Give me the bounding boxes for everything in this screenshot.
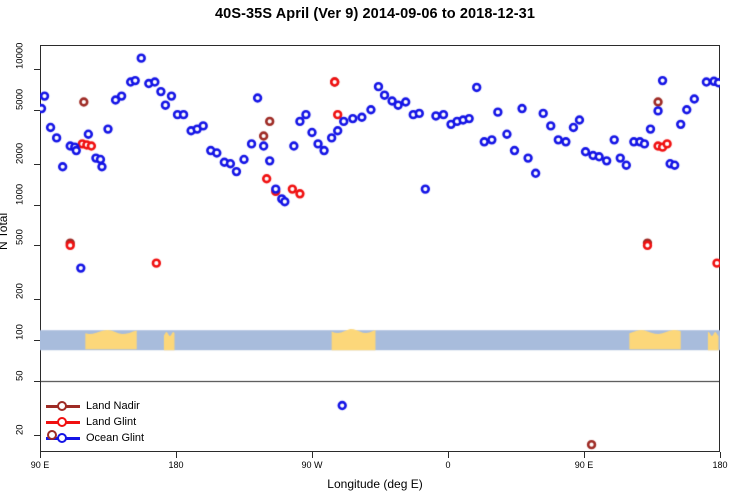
x-tick-label: 90 E [575,460,594,470]
x-tick-label: 180 [712,460,727,470]
y-axis-label: N Total [0,213,10,250]
x-axis-label: Longitude (deg E) [0,477,750,491]
y-tick-mark [34,435,40,436]
x-tick-label: 90 W [301,460,322,470]
y-tick-mark [34,381,40,382]
y-tick-mark [34,245,40,246]
chart-root: 40S-35S April (Ver 9) 2014-09-06 to 2018… [0,0,750,500]
legend-item-land-nadir[interactable]: Land Nadir [46,398,144,414]
legend: Land Nadir Land Glint Ocean Glint [46,398,144,446]
legend-marker-land-glint [46,416,80,428]
y-tick-mark [34,299,40,300]
scatter-plot-canvas[interactable] [40,45,720,452]
legend-label-land-nadir: Land Nadir [86,400,140,412]
x-tick-mark [448,452,449,458]
x-tick-mark [720,452,721,458]
y-tick-mark [34,205,40,206]
y-tick-mark [34,340,40,341]
stray-land-nadir-marker [47,430,57,440]
x-tick-mark [40,452,41,458]
x-tick-mark [176,452,177,458]
legend-item-land-glint[interactable]: Land Glint [46,414,144,430]
y-tick-mark [34,69,40,70]
x-tick-label: 180 [168,460,183,470]
x-tick-label: 0 [445,460,450,470]
legend-label-ocean-glint: Ocean Glint [86,432,144,444]
legend-label-land-glint: Land Glint [86,416,136,428]
legend-marker-land-nadir [46,400,80,412]
x-tick-mark [312,452,313,458]
y-tick-mark [34,164,40,165]
x-tick-mark [584,452,585,458]
x-tick-label: 90 E [31,460,50,470]
y-tick-mark [34,110,40,111]
legend-item-ocean-glint[interactable]: Ocean Glint [46,430,144,446]
chart-title: 40S-35S April (Ver 9) 2014-09-06 to 2018… [0,6,750,22]
